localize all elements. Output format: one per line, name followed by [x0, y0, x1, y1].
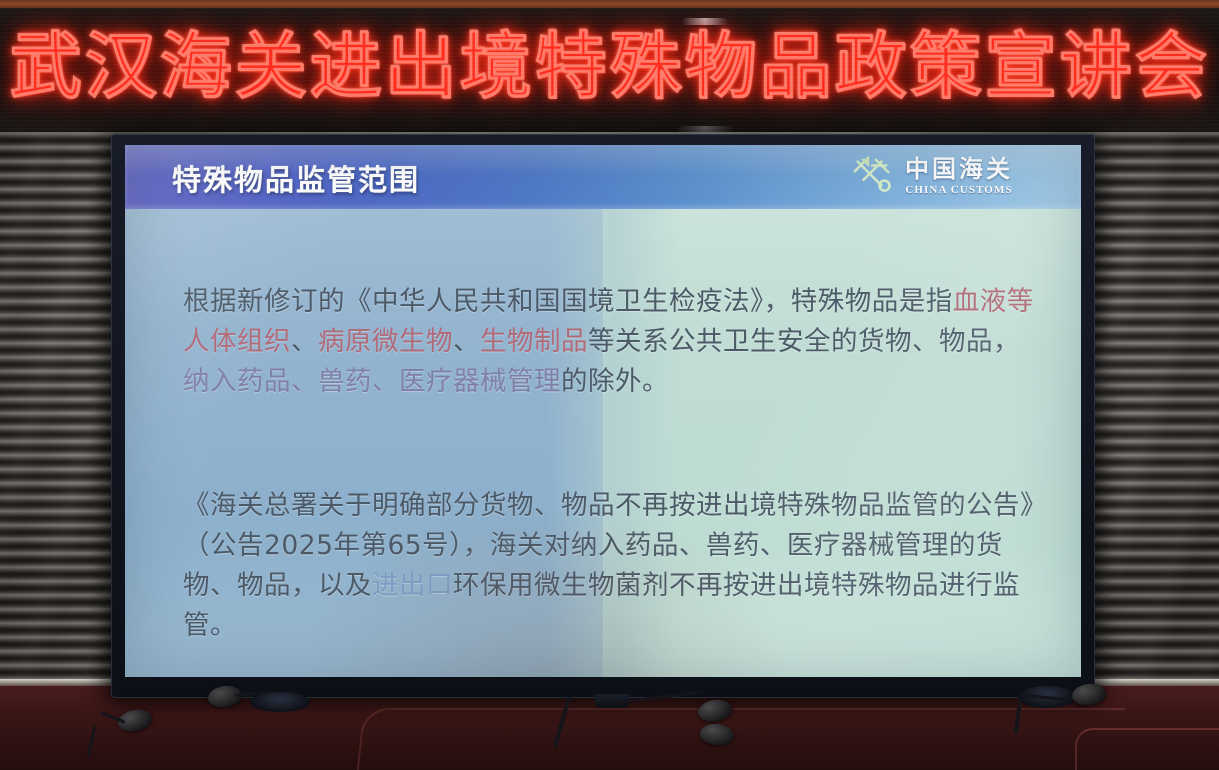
display-screen: 特殊物品监管范围 中国海关 CHINA CUSTOMS [125, 145, 1081, 677]
slide-title: 特殊物品监管范围 [172, 157, 420, 199]
china-customs-emblem-icon [850, 153, 896, 199]
p1-highlight-drug-exclusion: 纳入药品、兽药、医疗器械管理 [183, 366, 561, 397]
p1-highlight-biological-products: 生物制品 [480, 326, 588, 357]
slide-paragraph-2: 《海关总署关于明确部分货物、物品不再按进出境特殊物品监管的公告》（公告2025年… [183, 486, 1035, 646]
led-banner-text: 武汉海关进出境特殊物品政策宣讲会 [0, 30, 1219, 102]
display-stand-foot-left [250, 692, 310, 712]
screenshot-stage: 武汉海关进出境特殊物品政策宣讲会 特殊物品监管范围 [0, 0, 1219, 770]
p1-highlight-pathogenic-microbes: 病原微生物 [318, 326, 453, 357]
p1-seg-7: 等关系公共卫生安全的货物、物品， [588, 326, 1020, 357]
customs-english-name: CHINA CUSTOMS [905, 185, 1012, 196]
p1-seg-9: 的除外。 [561, 366, 669, 397]
p2-highlight-import-export: 进出口 [372, 570, 453, 601]
led-banner: 武汉海关进出境特殊物品政策宣讲会 [0, 8, 1219, 132]
china-customs-logo: 中国海关 CHINA CUSTOMS [850, 153, 1013, 199]
table-panel-seam-right [1075, 728, 1219, 770]
china-customs-wordmark: 中国海关 CHINA CUSTOMS [905, 157, 1013, 196]
p1-seg-1: 根据新修订的《中华人民共和国国境卫生检疫法》，特殊物品是指 [183, 286, 953, 317]
customs-chinese-name: 中国海关 [905, 157, 1013, 181]
slide-header-bar: 特殊物品监管范围 中国海关 CHINA CUSTOMS [125, 145, 1081, 209]
p1-seg-5: 、 [453, 326, 480, 357]
slide-paragraph-1: 根据新修订的《中华人民共和国国境卫生检疫法》，特殊物品是指血液等人体组织、病原微… [183, 282, 1035, 402]
p1-seg-3: 、 [291, 326, 318, 357]
table-panel-seam [357, 708, 1126, 770]
slide-body: 根据新修订的《中华人民共和国国境卫生检疫法》，特殊物品是指血液等人体组织、病原微… [125, 209, 1081, 677]
